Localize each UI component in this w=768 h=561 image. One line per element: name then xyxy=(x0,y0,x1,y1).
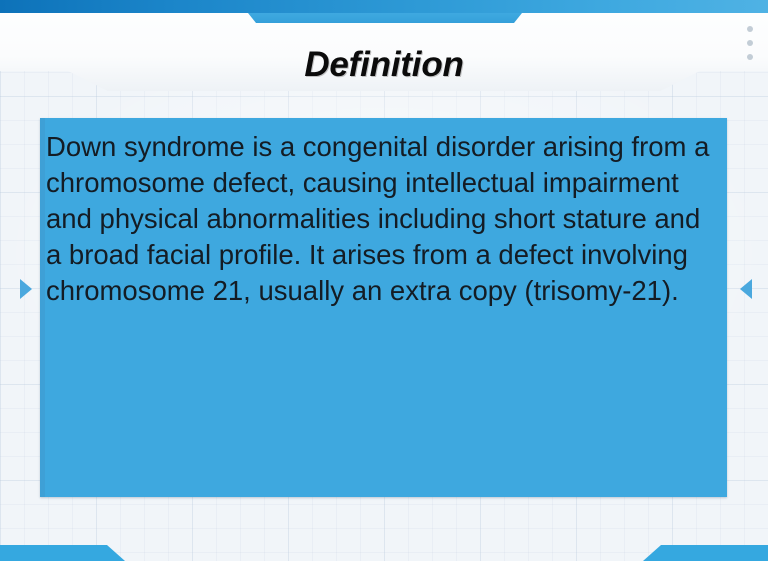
top-accent-band xyxy=(0,0,768,13)
kebab-menu-icon[interactable] xyxy=(742,26,758,60)
page-title: Definition xyxy=(0,45,768,85)
next-slide-arrow[interactable] xyxy=(740,279,752,299)
definition-body-text: Down syndrome is a congenital disorder a… xyxy=(46,129,718,309)
previous-slide-arrow[interactable] xyxy=(20,279,32,299)
slide-canvas: Definition Down syndrome is a congenital… xyxy=(0,0,768,561)
kebab-dot xyxy=(747,40,753,46)
footer-right-accent xyxy=(643,545,768,561)
header-tab-accent xyxy=(248,13,522,23)
panel-left-accent xyxy=(40,118,45,497)
definition-content-panel: Down syndrome is a congenital disorder a… xyxy=(40,118,727,497)
footer-left-accent xyxy=(0,545,125,561)
kebab-dot xyxy=(747,26,753,32)
kebab-dot xyxy=(747,54,753,60)
